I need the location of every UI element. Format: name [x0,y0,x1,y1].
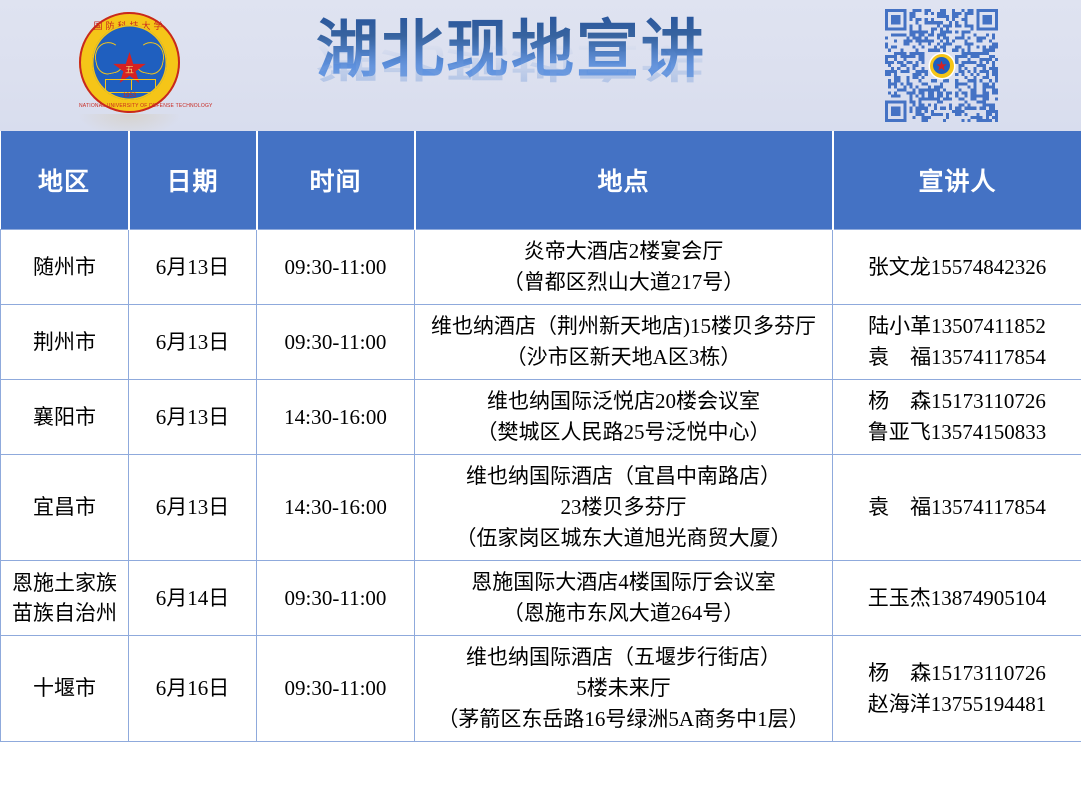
qr-center-logo-icon [930,54,954,78]
cell-time-3: 14:30-16:00 [257,455,415,561]
cell-date-0: 6月13日 [129,230,257,305]
cell-date-5: 6月16日 [129,636,257,742]
table-row: 襄阳市6月13日14:30-16:00维也纳国际泛悦店20楼会议室（樊城区人民路… [1,380,1081,455]
column-header-place: 地点 [415,131,833,230]
cell-region-4: 恩施土家族苗族自治州 [1,561,129,636]
cell-region-5: 十堰市 [1,636,129,742]
emblem-reflection [79,114,180,131]
table-row: 恩施土家族苗族自治州6月14日09:30-11:00恩施国际大酒店4楼国际厅会议… [1,561,1081,636]
emblem-book-icon [105,79,156,93]
cell-person-4: 王玉杰13874905104 [833,561,1081,636]
poster-title-block: 湖北现地宣讲 湖北现地宣讲 [316,14,786,131]
table-body: 随州市6月13日09:30-11:00炎帝大酒店2楼宴会厅（曾都区烈山大道217… [1,230,1081,742]
cell-place-3: 维也纳国际酒店（宜昌中南路店）23楼贝多芬厅（伍家岗区城东大道旭光商贸大厦） [415,455,833,561]
emblem-year: 1953 [79,93,180,99]
emblem-star-char: 五 [123,63,137,76]
cell-region-3: 宜昌市 [1,455,129,561]
cell-date-2: 6月13日 [129,380,257,455]
cell-time-5: 09:30-11:00 [257,636,415,742]
cell-time-1: 09:30-11:00 [257,305,415,380]
cell-place-4: 恩施国际大酒店4楼国际厅会议室（恩施市东风大道264号） [415,561,833,636]
cell-person-0: 张文龙15574842326 [833,230,1081,305]
cell-person-3: 袁 福13574117854 [833,455,1081,561]
cell-person-5: 杨 森15173110726赵海洋13755194481 [833,636,1081,742]
schedule-table: 地区 日期 时间 地点 宣讲人 随州市6月13日09:30-11:00炎帝大酒店… [0,131,1081,742]
cell-date-4: 6月14日 [129,561,257,636]
poster-banner: 国防科技大学 五 1953 NATIONAL UNIVERSITY OF DEF… [0,0,1081,131]
cell-person-1: 陆小革13507411852袁 福13574117854 [833,305,1081,380]
cell-time-4: 09:30-11:00 [257,561,415,636]
cell-region-1: 荆州市 [1,305,129,380]
table-header-row: 地区 日期 时间 地点 宣讲人 [1,131,1081,230]
university-emblem-icon: 国防科技大学 五 1953 NATIONAL UNIVERSITY OF DEF… [79,12,180,113]
cell-place-2: 维也纳国际泛悦店20楼会议室（樊城区人民路25号泛悦中心） [415,380,833,455]
emblem-english-text: NATIONAL UNIVERSITY OF DEFENSE TECHNOLOG… [79,103,180,109]
table-row: 随州市6月13日09:30-11:00炎帝大酒店2楼宴会厅（曾都区烈山大道217… [1,230,1081,305]
poster-title: 湖北现地宣讲 [316,14,786,86]
poster-root: 国防科技大学 五 1953 NATIONAL UNIVERSITY OF DEF… [0,0,1081,793]
cell-region-2: 襄阳市 [1,380,129,455]
cell-person-2: 杨 森15173110726鲁亚飞13574150833 [833,380,1081,455]
table-row: 荆州市6月13日09:30-11:00维也纳酒店（荆州新天地店)15楼贝多芬厅（… [1,305,1081,380]
cell-region-0: 随州市 [1,230,129,305]
cell-place-0: 炎帝大酒店2楼宴会厅（曾都区烈山大道217号） [415,230,833,305]
cell-date-3: 6月13日 [129,455,257,561]
table-row: 十堰市6月16日09:30-11:00维也纳国际酒店（五堰步行街店）5楼未来厅（… [1,636,1081,742]
cell-date-1: 6月13日 [129,305,257,380]
table-header: 地区 日期 时间 地点 宣讲人 [1,131,1081,230]
column-header-person: 宣讲人 [833,131,1081,230]
cell-time-2: 14:30-16:00 [257,380,415,455]
qr-code[interactable] [885,9,998,122]
table-row: 宜昌市6月13日14:30-16:00维也纳国际酒店（宜昌中南路店）23楼贝多芬… [1,455,1081,561]
column-header-date: 日期 [129,131,257,230]
cell-place-5: 维也纳国际酒店（五堰步行街店）5楼未来厅（茅箭区东岳路16号绿洲5A商务中1层） [415,636,833,742]
cell-time-0: 09:30-11:00 [257,230,415,305]
cell-place-1: 维也纳酒店（荆州新天地店)15楼贝多芬厅（沙市区新天地A区3栋） [415,305,833,380]
column-header-region: 地区 [1,131,129,230]
column-header-time: 时间 [257,131,415,230]
